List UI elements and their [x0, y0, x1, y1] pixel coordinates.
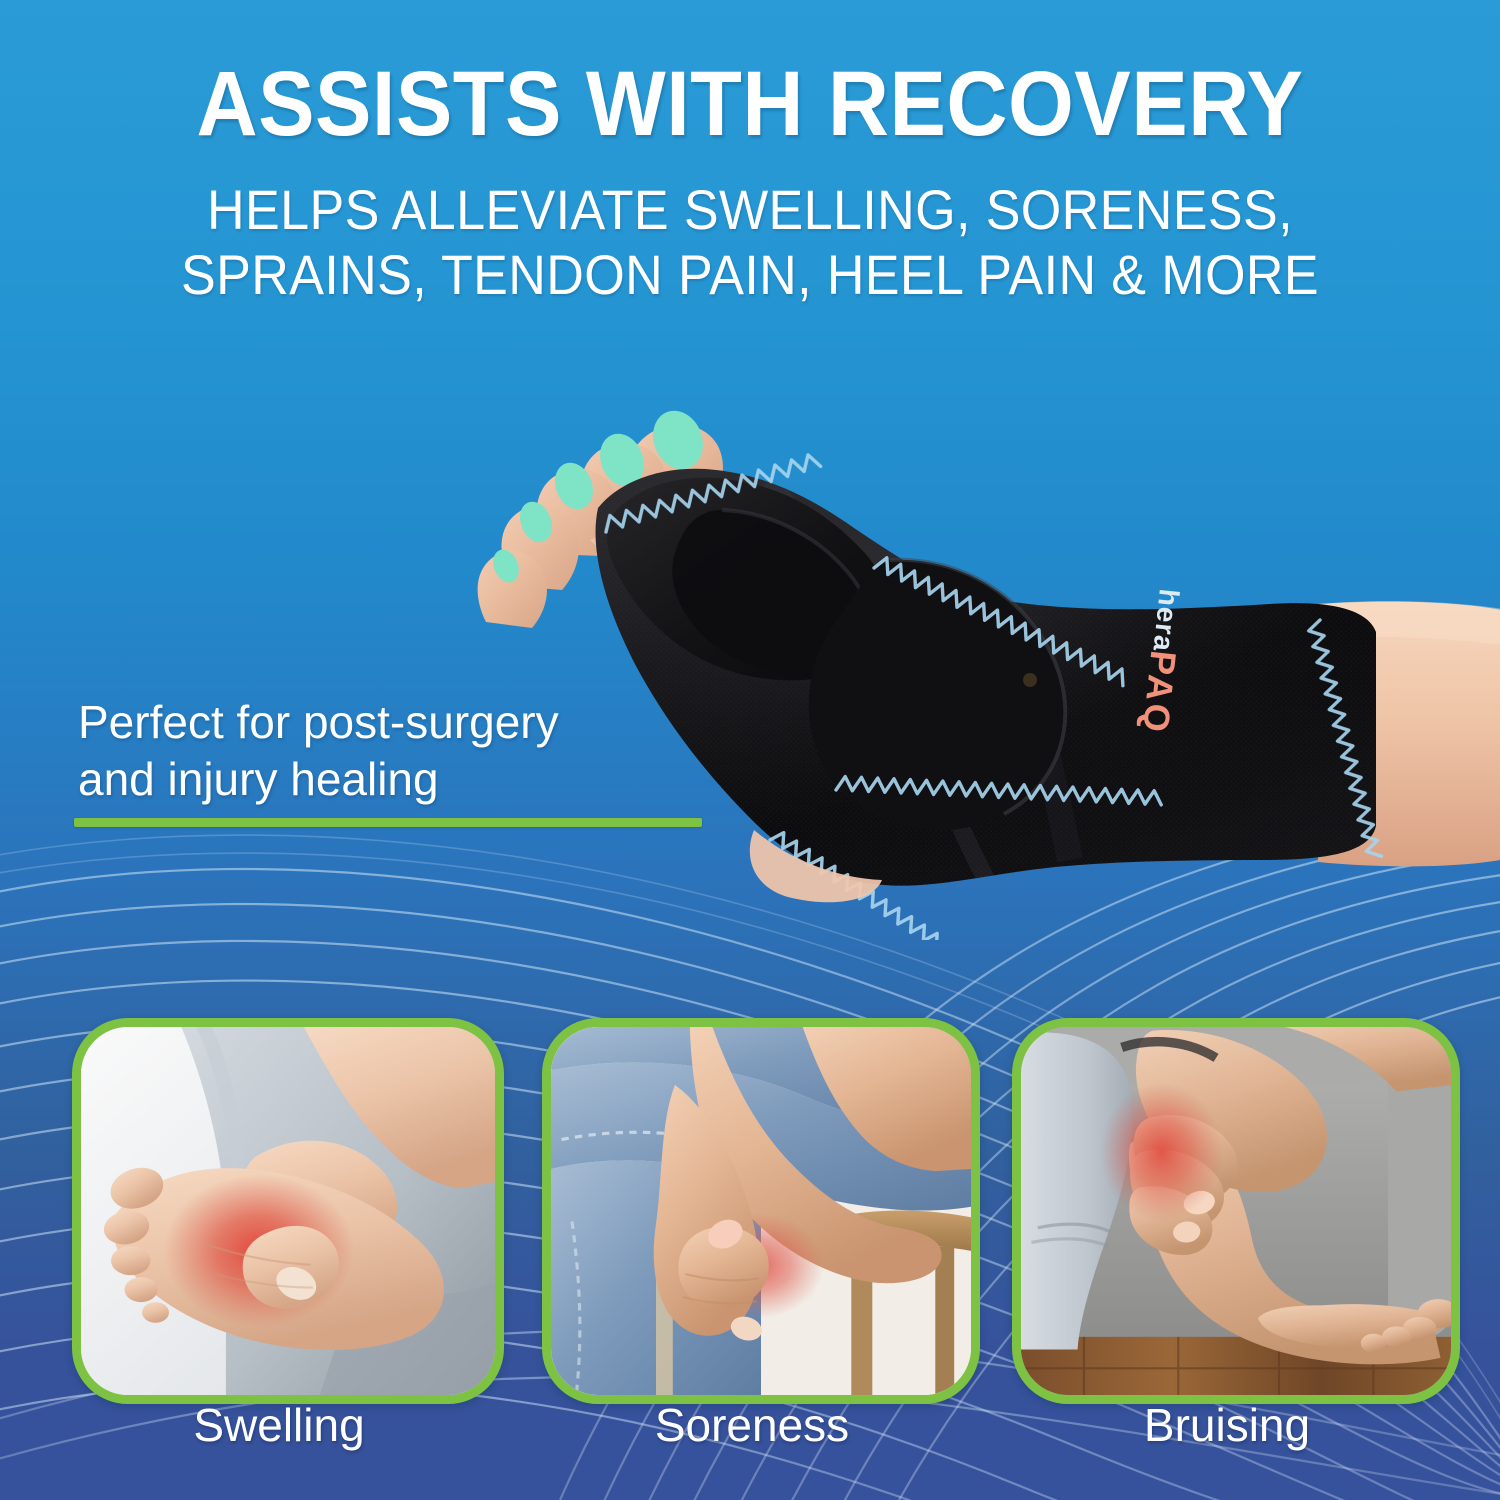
- brand-text-light: hera: [1147, 587, 1184, 653]
- benefit-panel-row: [0, 1018, 1500, 1390]
- hero-product-photo: hera PAQ: [470, 360, 1500, 940]
- page-subtitle: HELPS ALLEVIATE SWELLING, SORENESS, SPRA…: [146, 178, 1355, 308]
- photo-ankle-hold-on-couch: [1021, 1027, 1451, 1395]
- benefit-panel-swelling[interactable]: [72, 1018, 504, 1404]
- photo-heel-grip-on-stool: [551, 1027, 971, 1395]
- benefit-label-swelling: Swelling: [72, 1398, 486, 1452]
- benefit-label-soreness: Soreness: [542, 1398, 962, 1452]
- subtitle-line-1: HELPS ALLEVIATE SWELLING, SORENESS,: [146, 178, 1355, 243]
- page-title: ASSISTS WITH RECOVERY: [60, 58, 1440, 150]
- photo-foot-sole-massage: [81, 1027, 495, 1395]
- benefit-panel-bruising[interactable]: [1012, 1018, 1460, 1404]
- infographic-canvas: ASSISTS WITH RECOVERY HELPS ALLEVIATE SW…: [0, 0, 1500, 1500]
- feature-caption-line-1: Perfect for post-surgery: [78, 694, 718, 751]
- brand-text-coral: PAQ: [1135, 649, 1185, 737]
- benefit-label-bruising: Bruising: [1012, 1398, 1442, 1452]
- pain-highlight: [1101, 1083, 1223, 1221]
- benefit-panel-soreness[interactable]: [542, 1018, 980, 1404]
- subtitle-line-2: SPRAINS, TENDON PAIN, HEEL PAIN & MORE: [146, 243, 1355, 308]
- benefit-label-row: Swelling Soreness Bruising: [0, 1398, 1500, 1478]
- feature-caption: Perfect for post-surgery and injury heal…: [78, 694, 718, 808]
- wrap-eyelet: [1023, 673, 1037, 687]
- caption-underline-rule: [74, 818, 702, 827]
- feature-caption-line-2: and injury healing: [78, 751, 718, 808]
